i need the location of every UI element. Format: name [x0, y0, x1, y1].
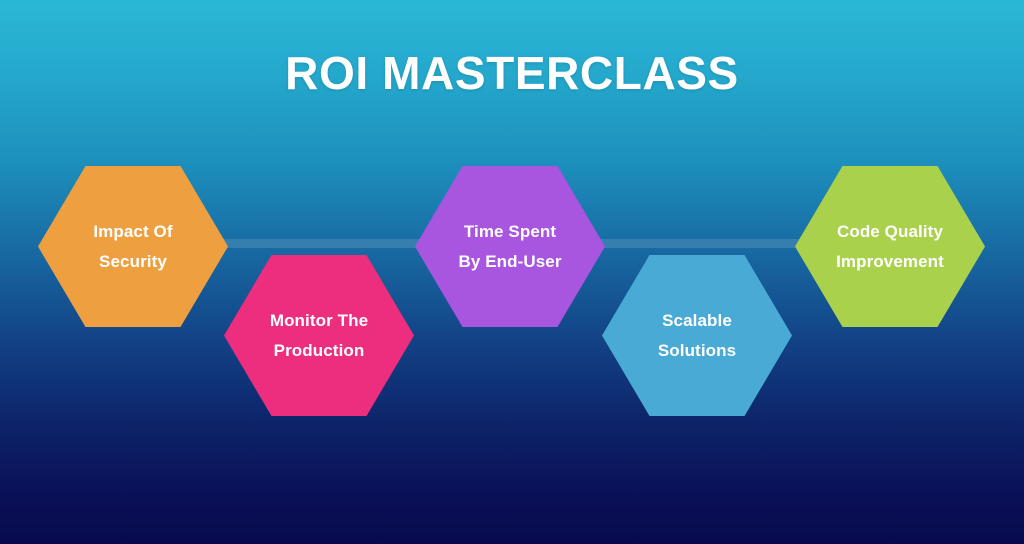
hexagon-scalable-solutions[interactable]: Scalable Solutions	[602, 255, 792, 416]
hexagon-label: Monitor The Production	[258, 306, 380, 366]
hexagon-code-quality-improvement[interactable]: Code Quality Improvement	[795, 166, 985, 327]
hexagon-monitor-the-production[interactable]: Monitor The Production	[224, 255, 414, 416]
page-title-text: ROI MASTERCLASS	[285, 46, 739, 100]
hexagon-impact-of-security[interactable]: Impact Of Security	[38, 166, 228, 327]
hexagon-label: Time Spent By End-User	[446, 217, 573, 277]
hexagon-label: Scalable Solutions	[646, 306, 748, 366]
hexagon-label: Impact Of Security	[81, 217, 184, 277]
infographic-canvas: ROI MASTERCLASS Impact Of Security Monit…	[0, 0, 1024, 544]
page-title: ROI MASTERCLASS	[0, 46, 1024, 100]
hexagon-time-spent-by-end-user[interactable]: Time Spent By End-User	[415, 166, 605, 327]
hexagon-label: Code Quality Improvement	[824, 217, 956, 277]
